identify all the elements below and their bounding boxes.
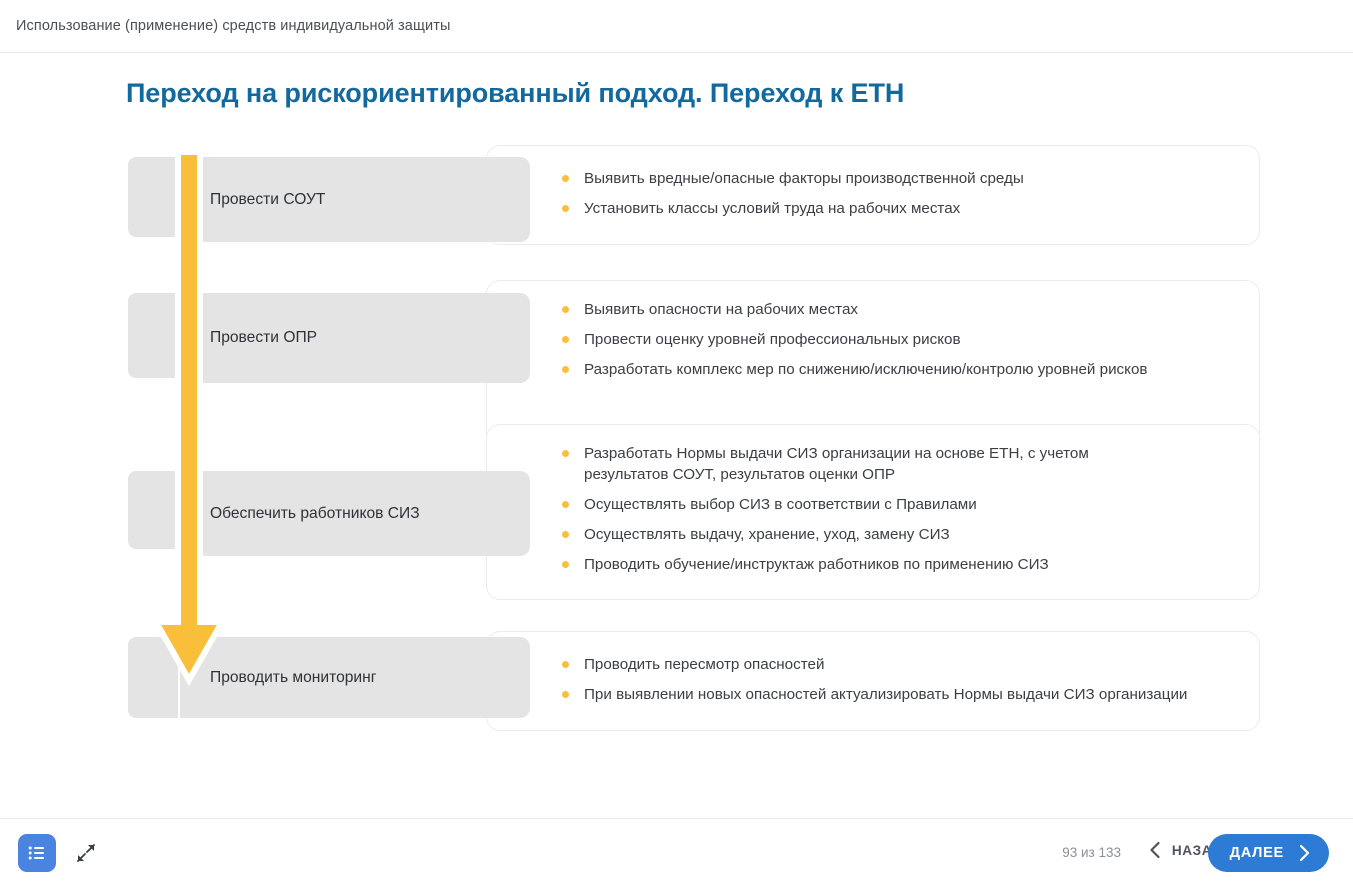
bullet-list: Проводить пересмотр опасностей При выявл… — [562, 654, 1187, 714]
list-icon — [27, 843, 47, 863]
row-label-box: Провести ОПР — [180, 293, 530, 383]
contents-menu-button[interactable] — [18, 834, 56, 872]
list-item: Установить классы условий труда на рабоч… — [562, 198, 1024, 219]
fullscreen-button[interactable] — [72, 839, 100, 867]
row-label-tab — [128, 157, 178, 237]
list-item: При выявлении новых опасностей актуализи… — [562, 684, 1187, 705]
list-item: Проводить пересмотр опасностей — [562, 654, 1187, 675]
row-label-box: Проводить мониторинг — [180, 637, 530, 718]
list-item: Провести оценку уровней профессиональных… — [562, 329, 1147, 350]
list-item: Выявить вредные/опасные факторы производ… — [562, 168, 1024, 189]
list-item: Разработать комплекс мер по снижению/иск… — [562, 359, 1147, 380]
top-bar: Использование (применение) средств индив… — [0, 0, 1353, 53]
row-detail-card: Проводить пересмотр опасностей При выявл… — [486, 631, 1260, 731]
row-label-box: Провести СОУТ — [180, 157, 530, 242]
row-label-tab — [128, 293, 178, 378]
bullet-list: Выявить опасности на рабочих местах Пров… — [562, 299, 1147, 389]
row-label-box: Обеспечить работников СИЗ — [180, 471, 530, 556]
row-label-tab — [128, 637, 178, 718]
course-title: Использование (применение) средств индив… — [16, 18, 450, 34]
row-detail-card: Выявить опасности на рабочих местах Пров… — [486, 280, 1260, 445]
list-item: Разработать Нормы выдачи СИЗ организации… — [562, 443, 1132, 485]
row-label-text: Проводить мониторинг — [210, 669, 376, 687]
list-item: Осуществлять выдачу, хранение, уход, зам… — [562, 524, 1132, 545]
row-label-tab — [128, 471, 178, 549]
row-label-text: Провести СОУТ — [210, 191, 325, 209]
slide-canvas: Переход на рискориентированный подход. П… — [0, 53, 1353, 818]
row-detail-card: Выявить вредные/опасные факторы производ… — [486, 145, 1260, 245]
bullet-list: Выявить вредные/опасные факторы производ… — [562, 168, 1024, 228]
slide-counter: 93 из 133 — [1062, 845, 1121, 860]
process-diagram: Выявить вредные/опасные факторы производ… — [0, 53, 1353, 818]
list-item: Проводить обучение/инструктаж работников… — [562, 554, 1132, 575]
list-item: Осуществлять выбор СИЗ в соответствии с … — [562, 494, 1132, 515]
row-detail-card: Разработать Нормы выдачи СИЗ организации… — [486, 424, 1260, 600]
chevron-left-icon — [1149, 841, 1161, 859]
fullscreen-icon — [75, 842, 97, 864]
list-item: Выявить опасности на рабочих местах — [562, 299, 1147, 320]
chevron-right-icon — [1298, 844, 1310, 862]
row-label-text: Обеспечить работников СИЗ — [210, 505, 420, 523]
next-button-label: ДАЛЕЕ — [1230, 845, 1284, 861]
row-label-text: Провести ОПР — [210, 329, 317, 347]
bullet-list: Разработать Нормы выдачи СИЗ организации… — [562, 443, 1132, 584]
next-button[interactable]: ДАЛЕЕ — [1208, 834, 1329, 872]
